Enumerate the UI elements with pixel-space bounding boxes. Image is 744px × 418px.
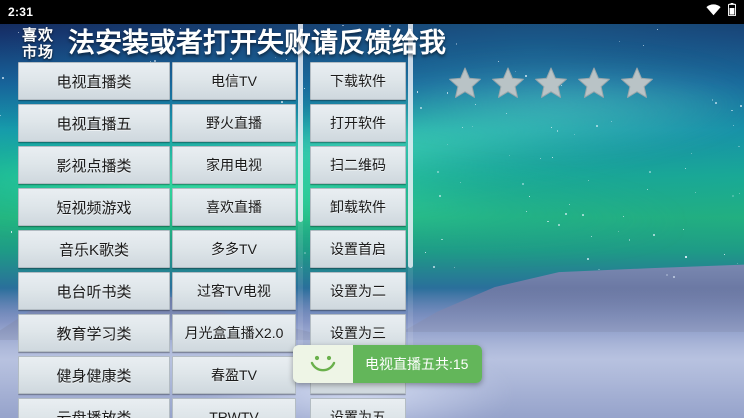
menu-item-action-8[interactable]: 设置为五 bbox=[310, 398, 406, 418]
menu-item-app-5[interactable]: 过客TV电视 bbox=[172, 272, 296, 310]
rating-stars[interactable] bbox=[448, 66, 654, 100]
menu-item-category-5[interactable]: 电台听书类 bbox=[18, 272, 170, 310]
menu-item-category-0[interactable]: 电视直播类 bbox=[18, 62, 170, 100]
menu-item-label: 电视直播类 bbox=[56, 71, 131, 92]
menu-item-label: 设置为二 bbox=[330, 281, 386, 301]
toast-notification: 电视直播五共:15 bbox=[293, 345, 482, 383]
brand-logo: 喜欢 市场 bbox=[22, 27, 84, 61]
menu-item-app-8[interactable]: TRWTV bbox=[172, 398, 296, 418]
sky-star bbox=[522, 183, 524, 185]
menu-item-label: 云盘播放类 bbox=[56, 407, 131, 418]
sky-star bbox=[420, 107, 421, 108]
menu-item-label: 月光盒直播X2.0 bbox=[185, 323, 284, 343]
menu-item-label: 短视频游戏 bbox=[56, 197, 131, 218]
sky-star bbox=[695, 192, 696, 193]
menu-item-label: 扫二维码 bbox=[330, 155, 386, 175]
menu-item-action-0[interactable]: 下载软件 bbox=[310, 62, 406, 100]
menu-item-label: 电台听书类 bbox=[56, 281, 131, 302]
menu-item-action-2[interactable]: 扫二维码 bbox=[310, 146, 406, 184]
status-bar-clock: 2:31 bbox=[8, 5, 33, 19]
sky-star bbox=[715, 102, 717, 104]
battery-icon bbox=[728, 3, 736, 21]
sky-star bbox=[425, 252, 426, 253]
menu-item-label: 设置首启 bbox=[330, 239, 386, 259]
menu-item-category-8[interactable]: 云盘播放类 bbox=[18, 398, 170, 418]
menu-item-label: 健身健康类 bbox=[56, 365, 131, 386]
sky-star bbox=[433, 266, 435, 268]
sky-star bbox=[439, 195, 441, 197]
menu-item-label: 野火直播 bbox=[206, 113, 262, 133]
sky-star bbox=[647, 189, 648, 190]
sky-star bbox=[685, 256, 686, 257]
menu-item-label: 多多TV bbox=[211, 239, 257, 259]
menu-item-action-5[interactable]: 设置为二 bbox=[310, 272, 406, 310]
menu-item-app-6[interactable]: 月光盒直播X2.0 bbox=[172, 314, 296, 352]
sky-star bbox=[454, 267, 455, 268]
menu-item-category-4[interactable]: 音乐K歌类 bbox=[18, 230, 170, 268]
status-bar-icons bbox=[706, 3, 736, 21]
app-header: 喜欢 市场 法安装或者打开失败请反馈给我 bbox=[0, 24, 744, 62]
menu-item-action-1[interactable]: 打开软件 bbox=[310, 104, 406, 142]
sky-star bbox=[618, 231, 619, 232]
sky-star bbox=[649, 171, 651, 173]
menu-item-app-3[interactable]: 喜欢直播 bbox=[172, 188, 296, 226]
sky-star bbox=[596, 125, 598, 127]
menu-item-app-2[interactable]: 家用电视 bbox=[172, 146, 296, 184]
star-icon-4[interactable] bbox=[577, 66, 611, 100]
sky-star bbox=[526, 211, 527, 212]
star-icon-2[interactable] bbox=[491, 66, 525, 100]
menu-item-label: 电视直播五 bbox=[56, 113, 131, 134]
menu-item-category-3[interactable]: 短视频游戏 bbox=[18, 188, 170, 226]
menu-item-label: 打开软件 bbox=[330, 113, 386, 133]
menu-item-label: 影视点播类 bbox=[56, 155, 131, 176]
menu-item-label: 家用电视 bbox=[206, 155, 262, 175]
star-icon-3[interactable] bbox=[534, 66, 568, 100]
sky-star bbox=[475, 104, 476, 105]
menu-item-category-7[interactable]: 健身健康类 bbox=[18, 356, 170, 394]
wifi-icon bbox=[706, 3, 721, 21]
menu-item-label: 下载软件 bbox=[330, 71, 386, 91]
sky-star bbox=[558, 224, 560, 226]
status-bar: 2:31 bbox=[0, 0, 744, 24]
star-icon-5[interactable] bbox=[620, 66, 654, 100]
menu-item-label: 过客TV电视 bbox=[197, 281, 271, 301]
menu-item-label: 设置为五 bbox=[330, 407, 386, 418]
sky-star bbox=[529, 196, 530, 197]
menu-item-label: 电信TV bbox=[211, 71, 257, 91]
menu-item-label: 音乐K歌类 bbox=[59, 239, 129, 260]
toast-message: 电视直播五共:15 bbox=[353, 345, 482, 383]
menu-item-category-6[interactable]: 教育学习类 bbox=[18, 314, 170, 352]
menu-item-label: TRWTV bbox=[209, 409, 259, 418]
sky-star bbox=[582, 214, 584, 216]
star-icon-1[interactable] bbox=[448, 66, 482, 100]
sky-star bbox=[685, 168, 686, 169]
menu-item-action-3[interactable]: 卸载软件 bbox=[310, 188, 406, 226]
sky-star bbox=[740, 105, 742, 107]
menu-item-label: 喜欢直播 bbox=[206, 197, 262, 217]
menu-item-label: 春盈TV bbox=[211, 365, 257, 385]
sky-star bbox=[588, 180, 589, 181]
menu-item-app-4[interactable]: 多多TV bbox=[172, 230, 296, 268]
menu-column-apps: 电信TV野火直播家用电视喜欢直播多多TV过客TV电视月光盒直播X2.0春盈TVT… bbox=[172, 62, 296, 418]
sky-star bbox=[460, 182, 461, 183]
sky-star bbox=[547, 221, 548, 222]
sky-star bbox=[447, 144, 448, 145]
menu-item-app-7[interactable]: 春盈TV bbox=[172, 356, 296, 394]
menu-item-label: 教育学习类 bbox=[56, 323, 131, 344]
menu-item-action-4[interactable]: 设置首启 bbox=[310, 230, 406, 268]
smiley-face-icon bbox=[293, 345, 353, 383]
menu-column-categories: 电视直播类电视直播五影视点播类短视频游戏音乐K歌类电台听书类教育学习类健身健康类… bbox=[18, 62, 170, 418]
menu-item-label: 卸载软件 bbox=[330, 197, 386, 217]
menu-item-app-0[interactable]: 电信TV bbox=[172, 62, 296, 100]
sky-star bbox=[732, 195, 734, 197]
menu-item-category-2[interactable]: 影视点播类 bbox=[18, 146, 170, 184]
sky-star bbox=[591, 236, 592, 237]
marquee-announcement: 法安装或者打开失败请反馈给我 bbox=[68, 24, 446, 62]
menu-item-app-1[interactable]: 野火直播 bbox=[172, 104, 296, 142]
menu-item-label: 设置为三 bbox=[330, 323, 386, 343]
sky-star bbox=[733, 125, 734, 126]
sky-star bbox=[724, 254, 725, 255]
menu-item-category-1[interactable]: 电视直播五 bbox=[18, 104, 170, 142]
